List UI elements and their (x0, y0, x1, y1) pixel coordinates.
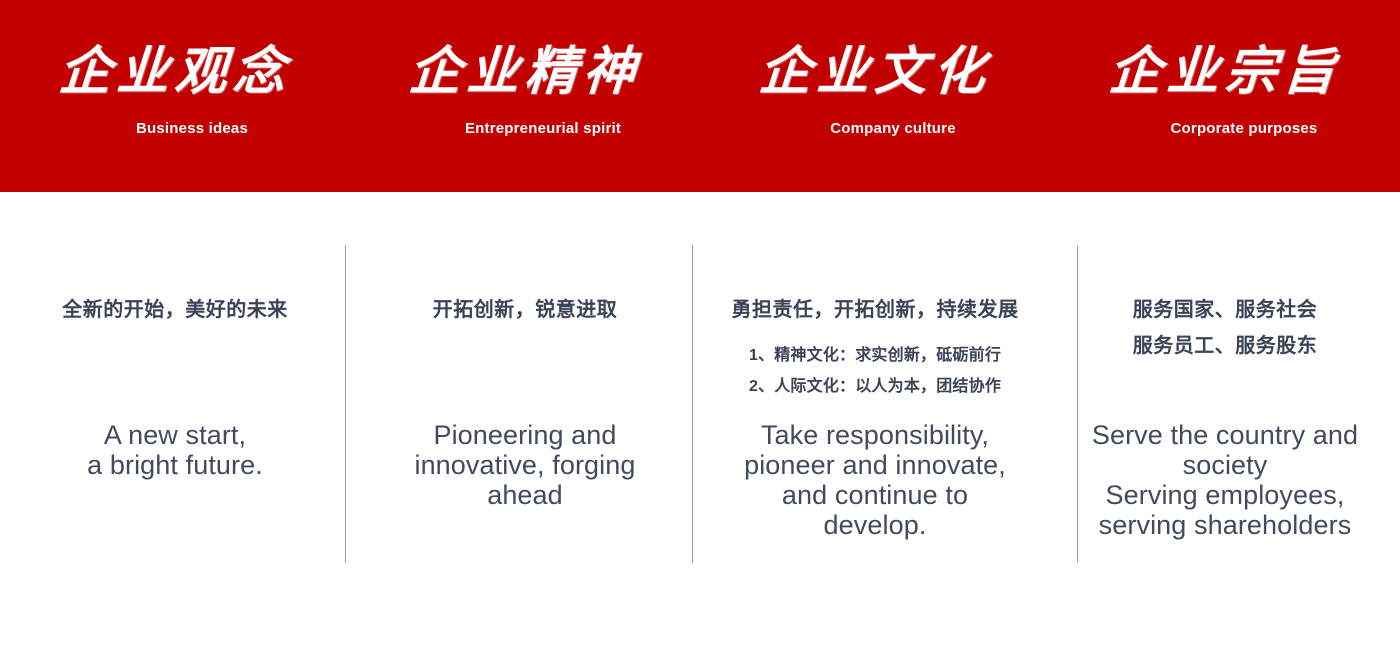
body-english-4-line3: Serving employees, (1056, 480, 1394, 510)
header-title-cn-3: 企业文化 (757, 46, 993, 98)
body-english-2-line3: ahead (356, 480, 694, 510)
header-column-company-culture: 企业文化 Company culture (700, 0, 1050, 192)
body-english-1-line2: a bright future. (6, 450, 344, 480)
body-column-corporate-purposes: 服务国家、服务社会 服务员工、服务股东 Serve the country an… (1050, 192, 1400, 662)
body-english-3-line1: Take responsibility, (706, 420, 1044, 450)
body-heading-cn-4-line1: 服务国家、服务社会 (1133, 299, 1318, 321)
body-heading-cn-2: 开拓创新，锐意进取 (364, 292, 686, 328)
header-band: 企业观念 Business ideas 企业精神 Entrepreneurial… (0, 0, 1400, 192)
body-english-1-line1: A new start, (6, 420, 344, 450)
body-heading-cn-2-line1: 开拓创新，锐意进取 (433, 299, 618, 321)
body-english-4: Serve the country and society Serving em… (1056, 420, 1394, 540)
header-column-entrepreneurial-spirit: 企业精神 Entrepreneurial spirit (350, 0, 700, 192)
body-sub-list-3: 1、精神文化：求实创新，砥砺前行 2、人际文化：以人为本，团结协作 (714, 340, 1036, 402)
body-area: 全新的开始，美好的未来 A new start, a bright future… (0, 192, 1400, 662)
header-title-cn-2: 企业精神 (407, 46, 643, 98)
body-sub-item-3-2: 2、人际文化：以人为本，团结协作 (714, 371, 1036, 402)
body-english-3-line4: develop. (706, 510, 1044, 540)
body-columns: 全新的开始，美好的未来 A new start, a bright future… (0, 192, 1400, 662)
body-column-business-ideas: 全新的开始，美好的未来 A new start, a bright future… (0, 192, 350, 662)
body-column-entrepreneurial-spirit: 开拓创新，锐意进取 Pioneering and innovative, for… (350, 192, 700, 662)
body-english-2-line2: innovative, forging (356, 450, 694, 480)
body-english-4-line2: society (1056, 450, 1394, 480)
header-subtitle-en-4: Corporate purposes (1171, 120, 1318, 137)
body-heading-cn-3: 勇担责任，开拓创新，持续发展 (714, 292, 1036, 328)
body-english-3-line3: and continue to (706, 480, 1044, 510)
body-english-1: A new start, a bright future. (6, 420, 344, 480)
body-heading-cn-1-line1: 全新的开始，美好的未来 (62, 299, 288, 321)
body-heading-cn-4-line2: 服务员工、服务股东 (1064, 328, 1386, 364)
body-heading-cn-1: 全新的开始，美好的未来 (14, 292, 336, 328)
header-column-corporate-purposes: 企业宗旨 Corporate purposes (1050, 0, 1400, 192)
body-sub-item-3-1: 1、精神文化：求实创新，砥砺前行 (714, 340, 1036, 371)
header-subtitle-en-3: Company culture (830, 120, 956, 137)
header-column-business-ideas: 企业观念 Business ideas (0, 0, 350, 192)
header-subtitle-en-2: Entrepreneurial spirit (465, 120, 621, 137)
body-column-company-culture: 勇担责任，开拓创新，持续发展 1、精神文化：求实创新，砥砺前行 2、人际文化：以… (700, 192, 1050, 662)
body-english-2: Pioneering and innovative, forging ahead (356, 420, 694, 510)
header-subtitle-en-1: Business ideas (136, 120, 248, 137)
body-english-2-line1: Pioneering and (356, 420, 694, 450)
header-title-cn-4: 企业宗旨 (1107, 46, 1343, 98)
body-heading-cn-3-line1: 勇担责任，开拓创新，持续发展 (732, 299, 1019, 321)
header-title-cn-1: 企业观念 (57, 46, 293, 98)
body-english-4-line1: Serve the country and (1056, 420, 1394, 450)
body-heading-cn-4: 服务国家、服务社会 服务员工、服务股东 (1064, 292, 1386, 364)
body-english-3: Take responsibility, pioneer and innovat… (706, 420, 1044, 540)
body-english-4-line4: serving shareholders (1056, 510, 1394, 540)
body-english-3-line2: pioneer and innovate, (706, 450, 1044, 480)
